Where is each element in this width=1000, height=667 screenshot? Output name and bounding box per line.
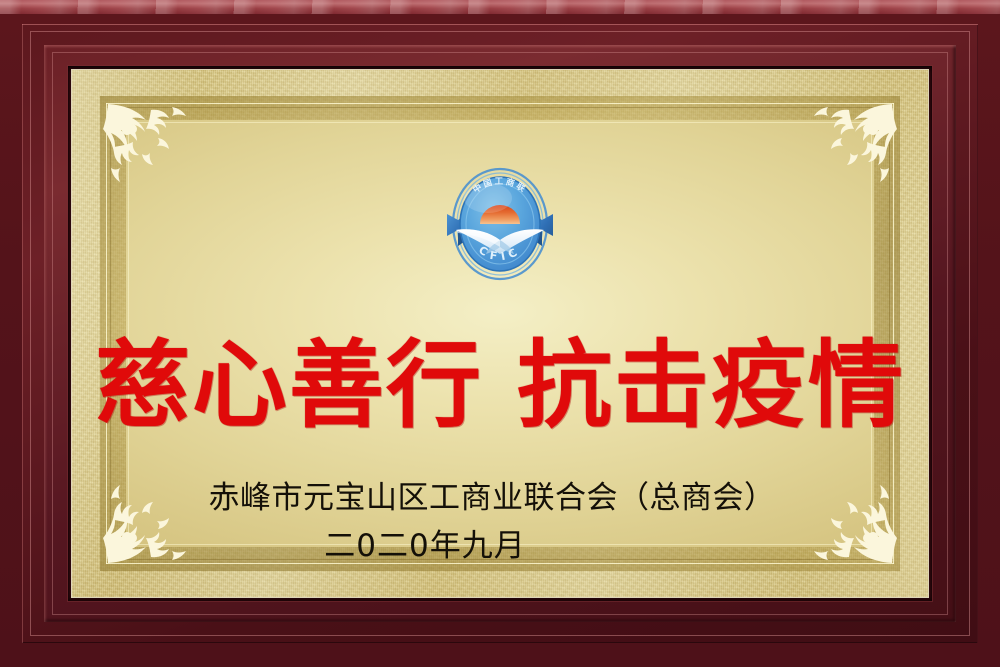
title-phrase-1: 慈心善行 [95,330,483,441]
border-rule-top-a [106,103,894,104]
frame-top-highlight [0,0,1000,14]
plaque-title: 慈心善行抗击疫情 [72,338,928,433]
title-phrase-2: 抗击疫情 [517,330,905,441]
border-rule-top-b [106,107,894,108]
inner-rule-top [128,122,872,123]
cfic-logo: 中国工商联 CFIC [432,158,568,290]
award-plaque: 中国工商联 CFIC 慈心善行抗击疫情 赤峰市元宝山区工商业联合会（ [0,0,1000,667]
issuing-organization: 赤峰市元宝山区工商业联合会（总商会） [72,472,928,517]
gold-plate: 中国工商联 CFIC 慈心善行抗击疫情 赤峰市元宝山区工商业联合会（ [72,70,928,597]
issue-date: 二0二0年九月 [72,520,928,565]
